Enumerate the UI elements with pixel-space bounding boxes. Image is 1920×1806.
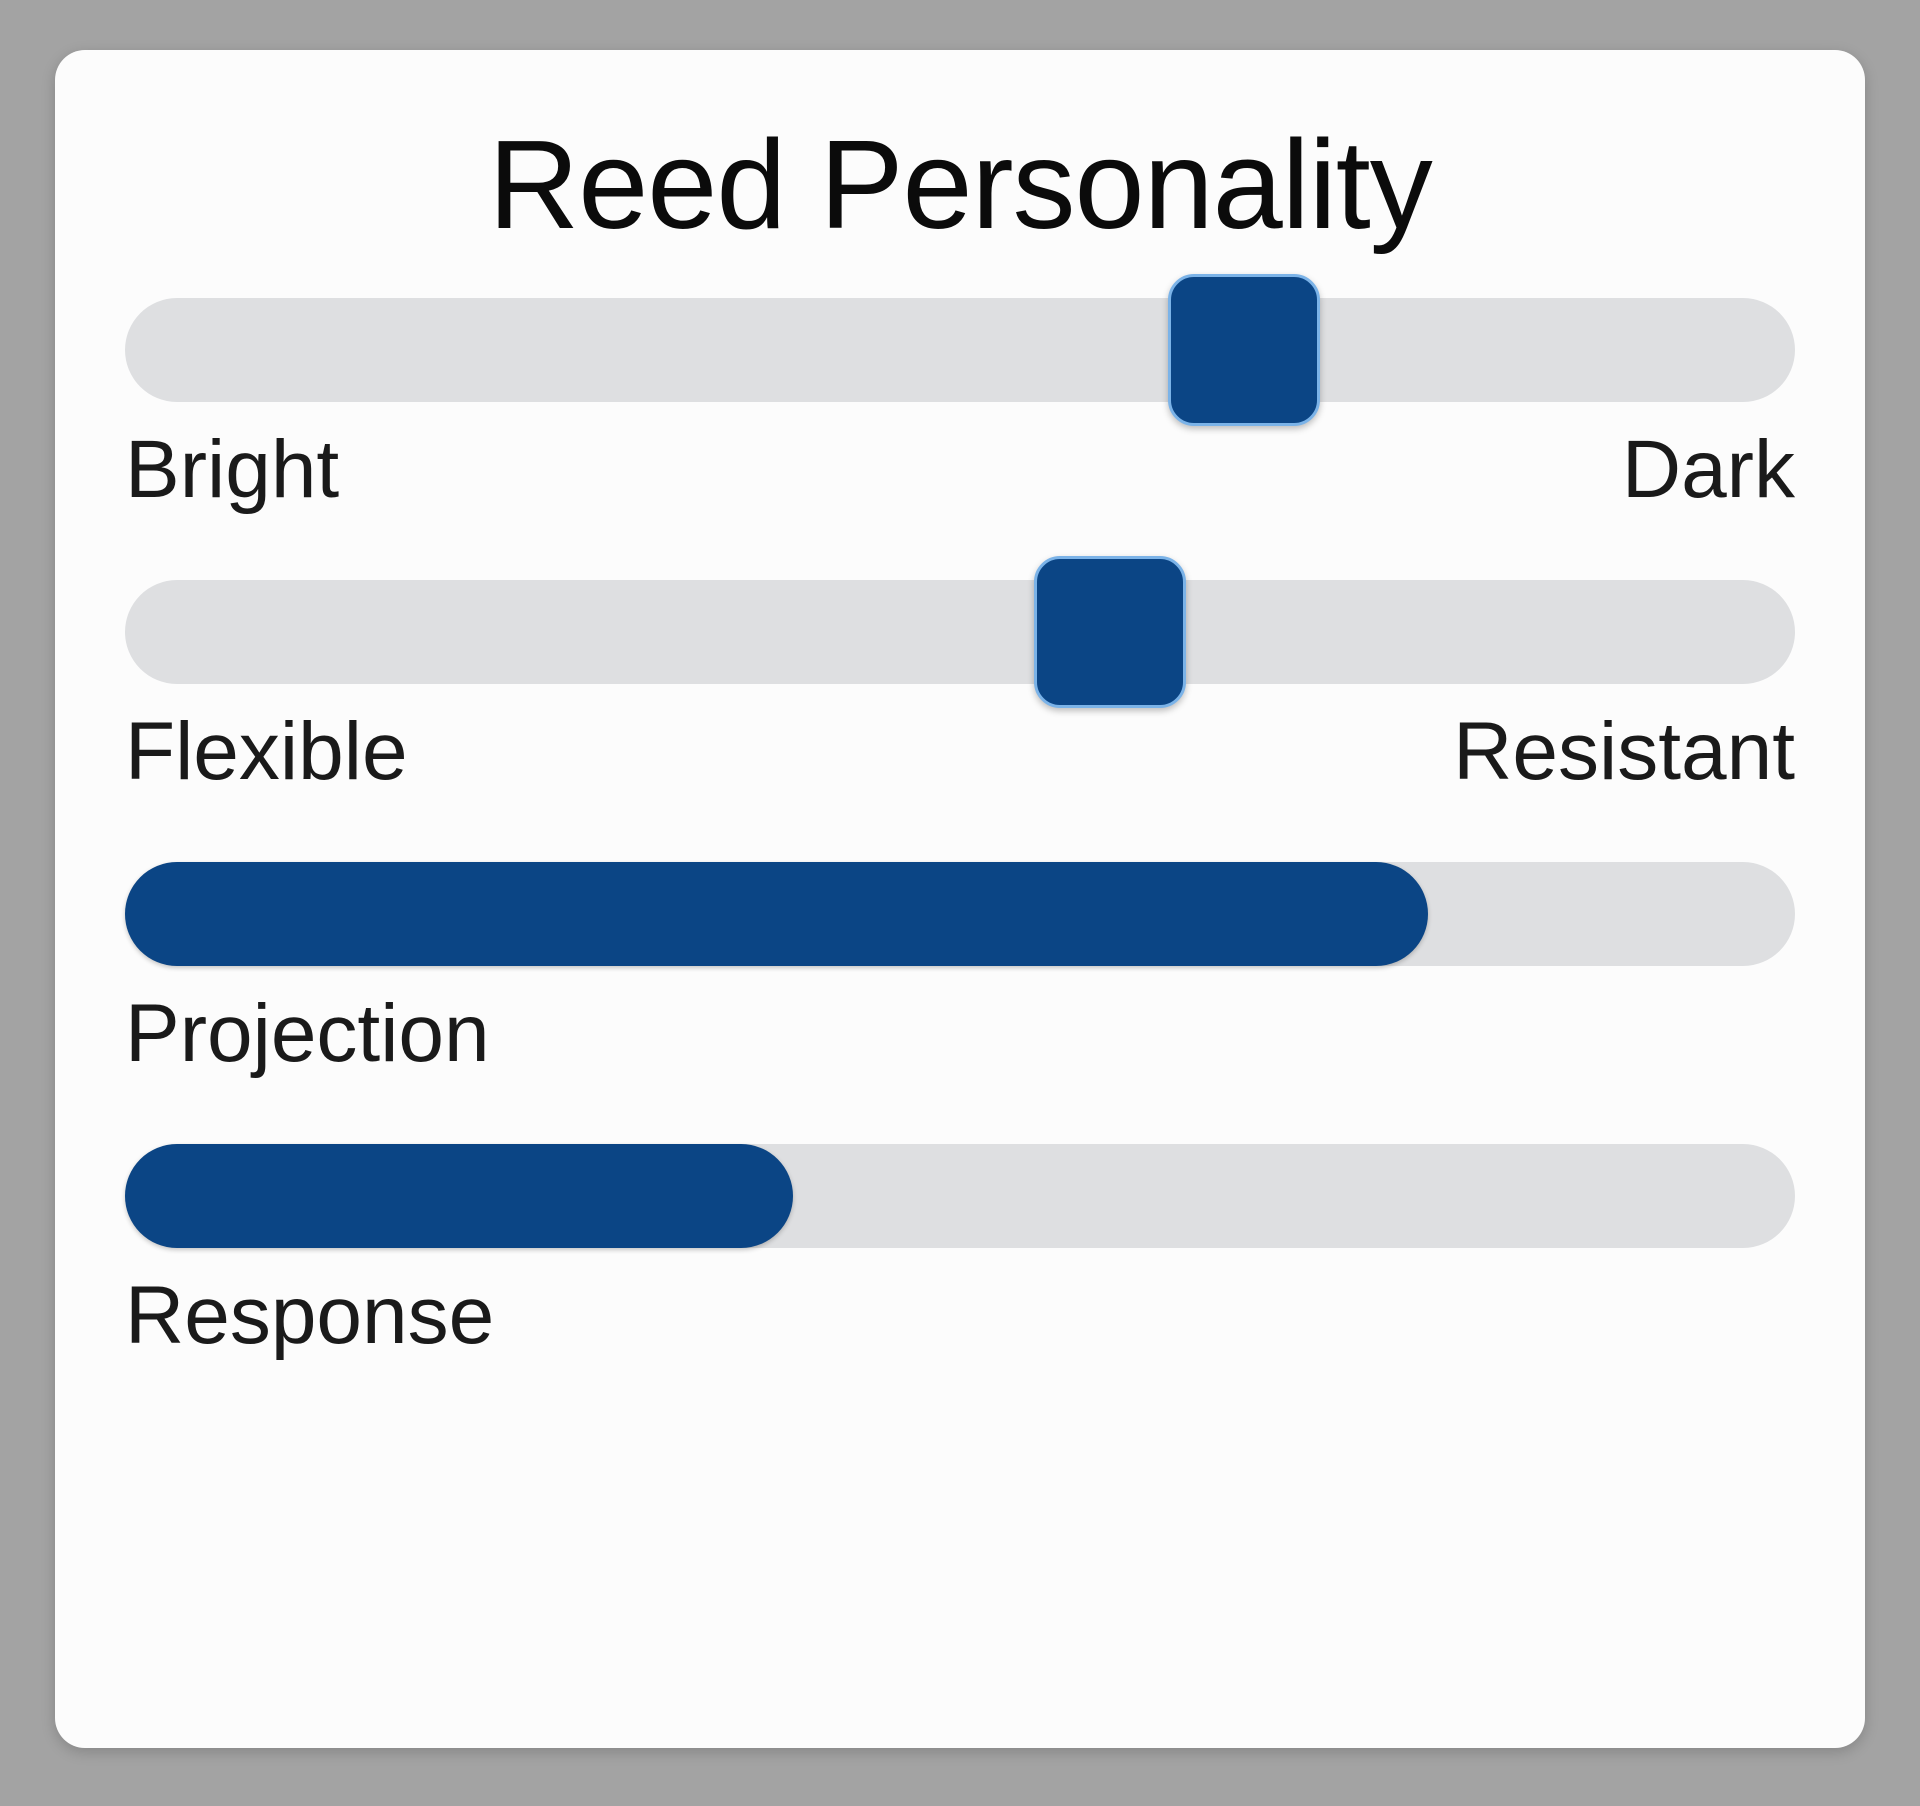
slider-thumb-brightness[interactable] <box>1168 274 1320 426</box>
slider-response[interactable] <box>125 1131 1795 1261</box>
slider-labels-flexibility: Flexible Resistant <box>125 711 1795 819</box>
slider-track-brightness[interactable] <box>125 298 1795 402</box>
slider-left-label-response: Response <box>125 1275 494 1357</box>
slider-right-label-brightness: Dark <box>1622 429 1795 511</box>
slider-left-label-flexibility: Flexible <box>125 711 408 793</box>
slider-fill-response[interactable] <box>125 1144 793 1248</box>
slider-track-projection[interactable] <box>125 862 1795 966</box>
slider-list: Bright Dark Flexible Resistant <box>125 285 1795 1413</box>
slider-flexibility[interactable] <box>125 567 1795 697</box>
page-title: Reed Personality <box>55 122 1865 248</box>
slider-left-label-brightness: Bright <box>125 429 339 511</box>
screen: Reed Personality Bright Dark <box>0 0 1920 1806</box>
slider-projection[interactable] <box>125 849 1795 979</box>
slider-left-label-projection: Projection <box>125 993 490 1075</box>
reed-personality-card: Reed Personality Bright Dark <box>55 50 1865 1748</box>
slider-brightness[interactable] <box>125 285 1795 415</box>
slider-row-flexibility: Flexible Resistant <box>125 567 1795 819</box>
slider-row-projection: Projection <box>125 849 1795 1101</box>
slider-fill-projection[interactable] <box>125 862 1428 966</box>
slider-track-response[interactable] <box>125 1144 1795 1248</box>
slider-row-brightness: Bright Dark <box>125 285 1795 537</box>
slider-right-label-flexibility: Resistant <box>1453 711 1795 793</box>
slider-labels-projection: Projection <box>125 993 1795 1101</box>
slider-thumb-flexibility[interactable] <box>1034 556 1186 708</box>
slider-labels-response: Response <box>125 1275 1795 1383</box>
slider-row-response: Response <box>125 1131 1795 1383</box>
slider-labels-brightness: Bright Dark <box>125 429 1795 537</box>
slider-track-flexibility[interactable] <box>125 580 1795 684</box>
